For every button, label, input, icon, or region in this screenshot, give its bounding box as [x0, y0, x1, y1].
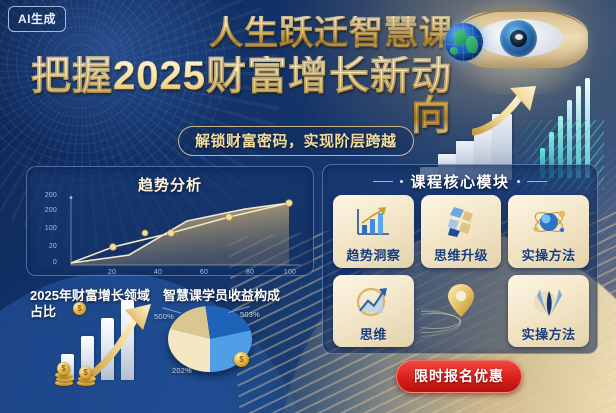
coin-icon: $ [234, 352, 249, 367]
panel-title-trend: 趋势分析 [27, 174, 313, 195]
headline-line-1: 人生跃迁智慧课 [0, 16, 454, 50]
trend-chart-svg [61, 195, 305, 271]
pie-label: 500% [154, 312, 174, 321]
poster-canvas: AI生成 人生跃迁智慧课 把握2025财富增长新动向 解锁财富密码，实现阶层跨越 [0, 0, 616, 413]
y-tick-label: 20 [35, 243, 57, 250]
module-card-location[interactable] [421, 275, 502, 348]
pie-label: 202% [172, 366, 192, 375]
course-modules-panel: 课程核心模块 趋势洞察 [322, 164, 598, 354]
module-card-trend-insight[interactable]: 趋势洞察 [333, 195, 414, 268]
map-pin-icon [447, 283, 475, 319]
dot-right [517, 180, 520, 183]
growth-arrow-icon [81, 296, 165, 384]
module-label: 思维升级 [434, 245, 488, 264]
trend-line-chart: 200 200 100 20 0 [61, 195, 305, 271]
module-label: 实操方法 [522, 324, 576, 343]
globe-icon [445, 23, 483, 61]
trend-analysis-panel: 趋势分析 200 200 100 20 0 [26, 166, 314, 276]
headline-line-2: 把握2025财富增长新动向 [0, 56, 454, 136]
module-label: 趋势洞察 [346, 245, 400, 264]
module-card-mindset[interactable]: 思维 [333, 275, 414, 348]
puzzle-shapes-icon [421, 200, 502, 244]
y-tick-label: 0 [35, 259, 57, 266]
modules-grid: 趋势洞察 思维升级 [333, 195, 589, 347]
subtitle-pill: 解锁财富密码，实现阶层跨越 [178, 126, 414, 156]
bar-chart-growth-icon [333, 200, 414, 244]
leaf-checkmark-icon [508, 280, 589, 324]
section-header-modules: 课程核心模块 [323, 171, 597, 192]
dot-left [400, 180, 403, 183]
module-card-practical-method-2[interactable]: 实操方法 [508, 275, 589, 348]
income-pie-chart: 500% 503% 202% $ [168, 306, 252, 386]
x-tick-label: 60 [193, 269, 215, 276]
floating-coin-icon: $ [73, 302, 86, 315]
x-tick-label: 20 [101, 269, 123, 276]
cta-badge-limited-offer[interactable]: 限时报名优惠 [396, 360, 522, 393]
x-tick-label: 40 [147, 269, 169, 276]
atom-network-icon [508, 200, 589, 244]
module-label: 实操方法 [522, 245, 576, 264]
module-label: 思维 [360, 324, 387, 343]
pie-label: 503% [240, 310, 260, 319]
y-tick-label: 200 [35, 192, 57, 199]
module-card-mindset-upgrade[interactable]: 思维升级 [421, 195, 502, 268]
line-chart-arrow-icon [333, 280, 414, 324]
module-card-practical-method[interactable]: 实操方法 [508, 195, 589, 268]
student-income-title: 智慧课学员收益构成 [163, 288, 303, 304]
growth-bar-chart: $ $ $ [55, 300, 165, 388]
divider-left [373, 181, 393, 182]
x-tick-label: 80 [239, 269, 261, 276]
x-tick-label: 100 [279, 269, 301, 276]
section-title-text: 课程核心模块 [410, 171, 509, 192]
y-tick-label: 100 [35, 225, 57, 232]
y-tick-label: 200 [35, 207, 57, 214]
divider-right [527, 181, 547, 182]
